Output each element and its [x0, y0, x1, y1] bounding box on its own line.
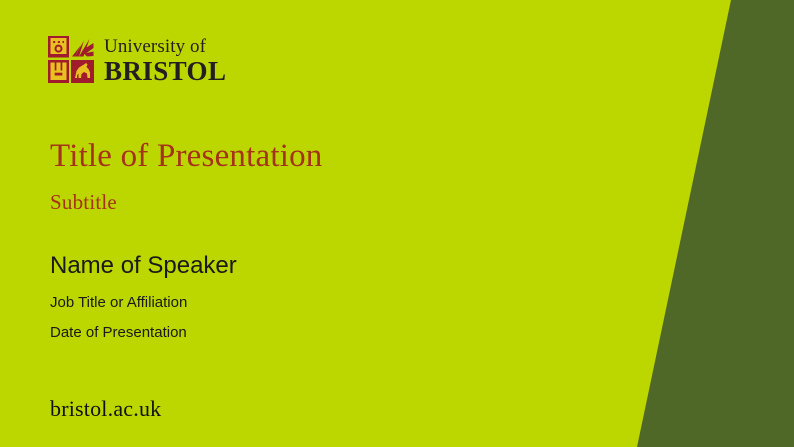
page-subtitle: Subtitle — [50, 190, 117, 215]
speaker-details: Name of Speaker Job Title or Affiliation… — [50, 252, 237, 341]
speaker-date: Date of Presentation — [50, 324, 237, 341]
wordmark-line-bristol: BRISTOL — [104, 58, 226, 86]
wordmark-line-university: University of — [104, 37, 226, 57]
speaker-role: Job Title or Affiliation — [50, 294, 237, 311]
university-of-bristol-logo: University of BRISTOL — [48, 36, 226, 85]
wordmark: University of BRISTOL — [104, 36, 226, 85]
speaker-name: Name of Speaker — [50, 252, 237, 281]
page-title: Title of Presentation — [50, 138, 322, 175]
bristol-crest-icon — [48, 36, 94, 83]
footer-url: bristol.ac.uk — [50, 396, 161, 422]
presentation-title-slide: University of BRISTOL Title of Presentat… — [0, 0, 794, 447]
